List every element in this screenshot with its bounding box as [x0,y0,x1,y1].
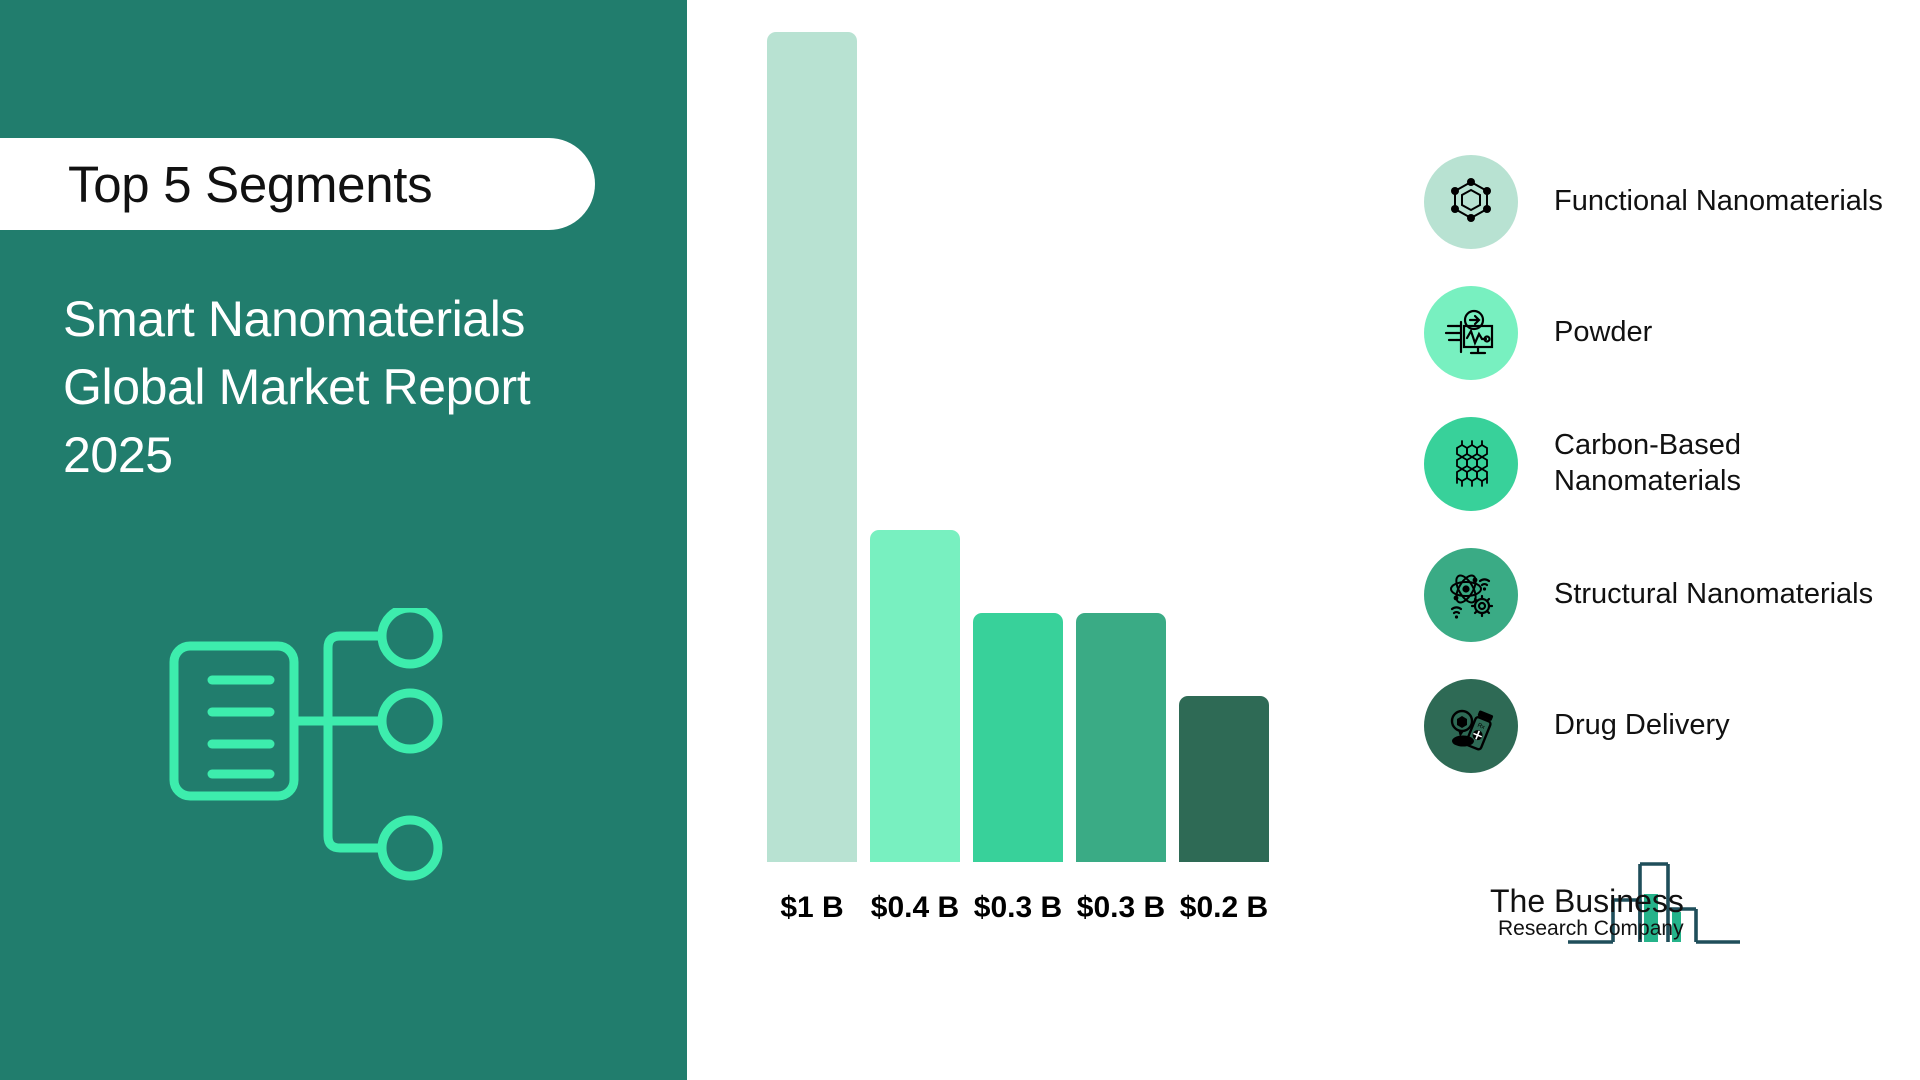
bar-1 [870,530,960,862]
bar-2 [973,613,1063,862]
top-segments-badge-label: Top 5 Segments [68,155,432,214]
legend-item-structural-nanomaterials: Structural Nanomaterials [1424,529,1894,660]
chart-legend: Functional Nanomaterials Powder [1424,136,1894,791]
bar-group [767,32,1269,862]
legend-badge-4: Rx [1424,679,1518,773]
bar-0 [767,32,857,862]
legend-label: Structural Nanomaterials [1554,577,1873,612]
legend-badge-2 [1424,417,1518,511]
left-panel: Top 5 Segments Smart Nanomaterials Globa… [0,0,687,1080]
bar-value-label: $0.3 B [973,891,1063,925]
page-title: Smart Nanomaterials Global Market Report… [63,285,663,489]
document-hierarchy-icon [168,608,493,888]
atom-gear-icon [1444,568,1498,622]
bar-column [1179,32,1269,862]
graphene-lattice-icon [1444,437,1498,491]
bar-column [1076,32,1166,862]
legend-badge-3 [1424,548,1518,642]
legend-badge-0 [1424,155,1518,249]
top-segments-badge: Top 5 Segments [0,138,595,230]
legend-item-carbon-based-nanomaterials: Carbon-Based Nanomaterials [1424,398,1894,529]
molecule-hexagon-icon [1444,175,1498,229]
medicine-tube-icon: Rx [1444,699,1498,753]
legend-item-powder: Powder [1424,267,1894,398]
page-title-line-3: 2025 [63,421,663,489]
bar-value-labels: $1 B $0.4 B $0.3 B $0.3 B $0.2 B [767,891,1269,925]
legend-label: Powder [1554,315,1652,350]
legend-label: Carbon-Based Nanomaterials [1554,428,1894,499]
legend-label: Drug Delivery [1554,708,1730,743]
bar-column [870,32,960,862]
logo-line-2: Research Company [1498,917,1684,940]
bar-4 [1179,696,1269,862]
bar-value-label: $1 B [767,891,857,925]
svg-text:Rx: Rx [1476,722,1485,730]
bar-column [973,32,1063,862]
legend-item-drug-delivery: Rx Drug Delivery [1424,660,1894,791]
page-title-line-1: Smart Nanomaterials [63,285,663,353]
legend-badge-1 [1424,286,1518,380]
bar-value-label: $0.4 B [870,891,960,925]
page-title-line-2: Global Market Report [63,353,663,421]
legend-label: Functional Nanomaterials [1554,184,1883,219]
logo-line-1: The Business [1490,883,1684,919]
company-logo: The Business Research Company [1468,850,1788,950]
legend-item-functional-nanomaterials: Functional Nanomaterials [1424,136,1894,267]
bar-value-label: $0.2 B [1179,891,1269,925]
logo-mark: The Business Research Company [1468,850,1788,950]
bar-column [767,32,857,862]
monitor-analytics-icon [1444,306,1498,360]
bar-3 [1076,613,1166,862]
bar-value-label: $0.3 B [1076,891,1166,925]
